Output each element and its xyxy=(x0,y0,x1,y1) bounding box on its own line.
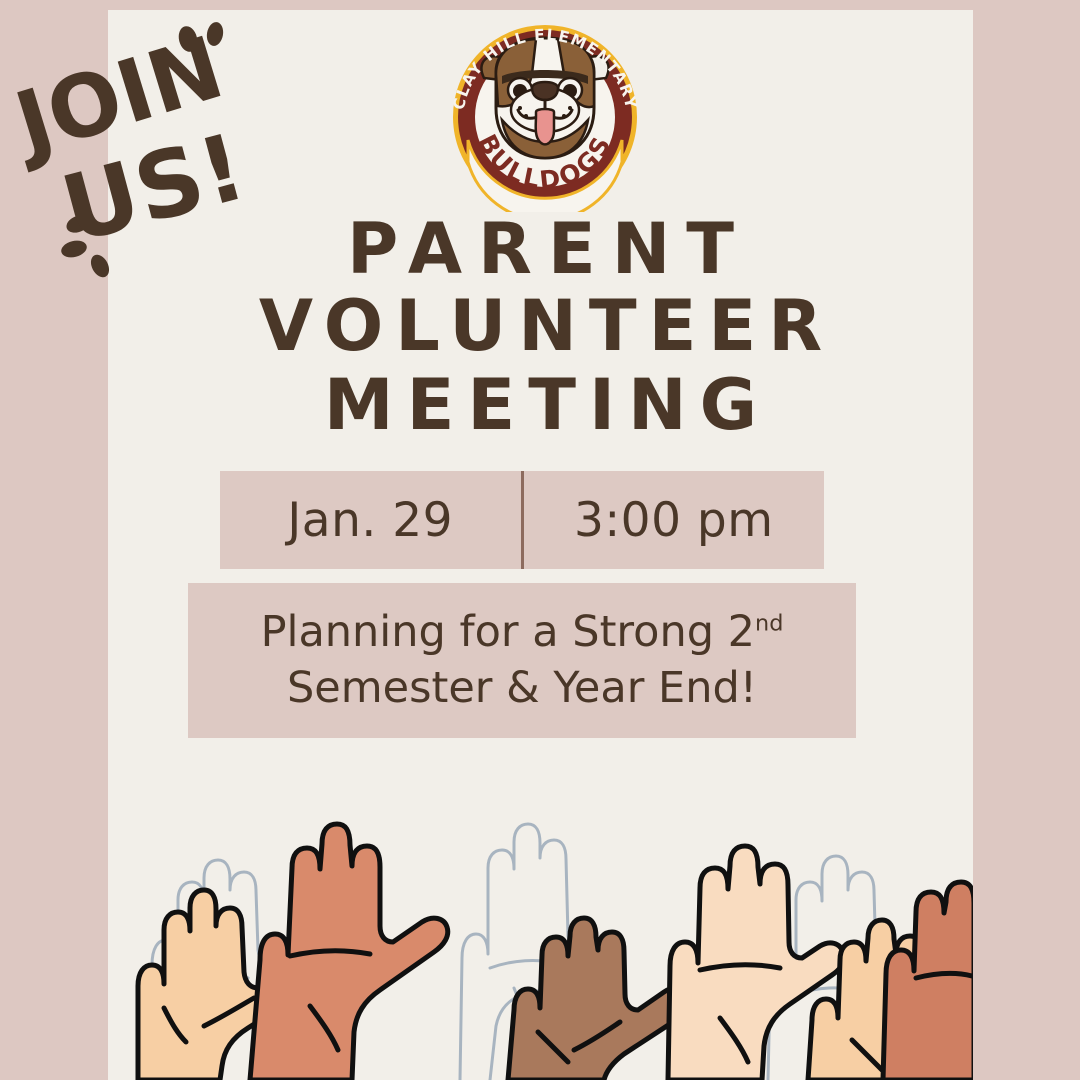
title-line-3: MEETING xyxy=(108,371,973,440)
poster-canvas: PARENT VOLUNTEER MEETING Jan. 29 3:00 pm… xyxy=(0,0,1080,1080)
page-title: PARENT VOLUNTEER MEETING xyxy=(108,215,973,440)
event-date: Jan. 29 xyxy=(220,493,521,548)
title-line-2: VOLUNTEER xyxy=(108,292,973,361)
subtitle-line-2: Semester & Year End! xyxy=(287,661,757,716)
subtitle-band: Planning for a Strong 2nd Semester & Yea… xyxy=(188,583,856,738)
date-time-bar: Jan. 29 3:00 pm xyxy=(220,471,824,569)
ordinal-suffix: nd xyxy=(755,611,783,637)
subtitle-line-1-text: Planning for a Strong 2 xyxy=(261,607,755,657)
school-logo: CLAY HILL ELEMENTARY BULLDOGS xyxy=(440,12,650,212)
subtitle-line-1: Planning for a Strong 2nd xyxy=(261,605,784,660)
title-line-1: PARENT xyxy=(108,215,973,284)
raised-hands-illustration xyxy=(108,750,973,1080)
event-time: 3:00 pm xyxy=(524,493,825,548)
